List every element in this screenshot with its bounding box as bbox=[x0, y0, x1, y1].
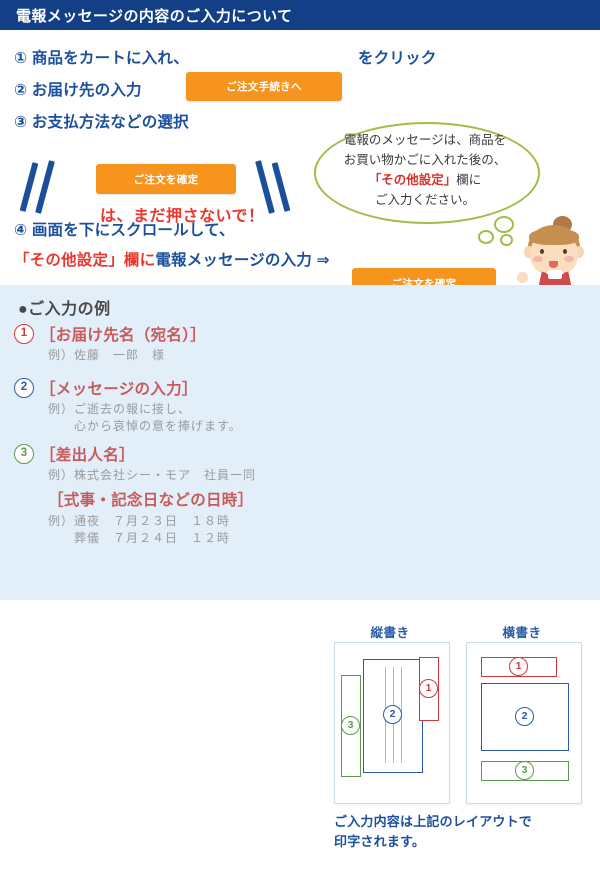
example-sample-2-line-1: 例）ご逝去の報に接し、 bbox=[48, 401, 242, 418]
step-3: ③ お支払方法などの選択 bbox=[14, 110, 189, 132]
example-sample-date: 例）通夜 ７月２３日 １８時 葬儀 ７月２４日 １２時 bbox=[48, 513, 230, 547]
step-4-arrow-icon: ⇒ bbox=[317, 252, 330, 269]
example-panel-title: ●ご入力の例 bbox=[18, 295, 111, 319]
infographic-page: 電報メッセージの内容のご入力について ① 商品をカートに入れ、 をクリック ご注… bbox=[0, 0, 600, 600]
character-mouth bbox=[549, 261, 558, 268]
page-header: 電報メッセージの内容のご入力について bbox=[0, 0, 600, 30]
layout-diagrams: 縦書き 横書き 1 2 3 1 2 3 bbox=[330, 580, 592, 880]
step-4-line-1: ④ 画面を下にスクロールして、 bbox=[14, 218, 235, 240]
steps-section: ① 商品をカートに入れ、 をクリック ご注文手続きへ ② お届け先の入力 ③ お… bbox=[0, 30, 600, 282]
step-2: ② お届け先の入力 bbox=[14, 78, 142, 100]
slash-mark-left-1 bbox=[20, 162, 39, 212]
example-sample-2-line-2: 心から哀悼の意を捧げます。 bbox=[48, 418, 242, 435]
character-blush-left bbox=[533, 256, 543, 262]
example-item-2: 2［メッセージの入力］ bbox=[14, 377, 198, 399]
bubble-line-1: 電報のメッセージは、商品を bbox=[318, 130, 532, 150]
bubble-highlight: 「その他設定」 bbox=[369, 173, 457, 187]
example-sample-3-line-1: 例）株式会社シー・モア 社員一同 bbox=[48, 467, 256, 484]
example-label-date: ［式事・記念日などの日時］ bbox=[48, 492, 253, 509]
horizontal-marker-1: 1 bbox=[509, 657, 528, 676]
character-eye-right bbox=[563, 249, 567, 254]
speech-bubble-text: 電報のメッセージは、商品を お買い物かごに入れた後の、 「その他設定」欄に ご入… bbox=[318, 130, 532, 210]
step-4-line-2: 「その他設定」欄に電報メッセージの入力 ⇒ bbox=[14, 248, 330, 270]
example-item-3: 3［差出人名］ bbox=[14, 443, 135, 465]
example-item-1: 1［お届け先名（宛名）］ bbox=[14, 323, 206, 345]
example-label-2: ［メッセージの入力］ bbox=[40, 381, 198, 398]
vertical-marker-1: 1 bbox=[419, 679, 438, 698]
checkout-button-label: ご注文手続きへ bbox=[226, 79, 302, 94]
example-sample-2: 例）ご逝去の報に接し、 心から哀悼の意を捧げます。 bbox=[48, 401, 242, 435]
step-4-navy-text: 電報メッセージの入力 bbox=[155, 252, 312, 269]
vertical-marker-2: 2 bbox=[383, 705, 402, 724]
speech-bubble-tail-3 bbox=[500, 234, 513, 246]
example-label-1: ［お届け先名（宛名）］ bbox=[40, 327, 206, 344]
bubble-line-3-tail: 欄に bbox=[456, 173, 481, 187]
diagram-caption: ご入力内容は上記のレイアウトで 印字されます。 bbox=[334, 812, 590, 852]
checkout-button[interactable]: ご注文手続きへ bbox=[186, 72, 342, 101]
speech-bubble-tail-2 bbox=[478, 230, 494, 244]
bubble-line-3: 「その他設定」欄に bbox=[318, 170, 532, 190]
example-item-date: ［式事・記念日などの日時］ bbox=[48, 488, 253, 510]
confirm-order-button-1[interactable]: ご注文を確定 bbox=[96, 164, 236, 194]
slash-mark-right-2 bbox=[272, 162, 291, 212]
diagram-caption-line-1: ご入力内容は上記のレイアウトで bbox=[334, 812, 590, 832]
character-hand bbox=[517, 272, 528, 283]
character-blush-right bbox=[564, 256, 574, 262]
step-1-suffix: をクリック bbox=[358, 50, 437, 67]
example-number-1: 1 bbox=[14, 324, 34, 344]
example-sample-1: 例）佐藤 一郎 様 bbox=[48, 347, 165, 364]
horizontal-layout-card: 1 2 3 bbox=[466, 642, 582, 804]
step-1-prefix: ① 商品をカートに入れ、 bbox=[14, 50, 189, 67]
horizontal-marker-2: 2 bbox=[515, 707, 534, 726]
step-4-red-text: 「その他設定」欄に bbox=[14, 252, 155, 269]
bubble-line-2: お買い物かごに入れた後の、 bbox=[318, 150, 532, 170]
example-panel: ●ご入力の例 1［お届け先名（宛名）］ 例）佐藤 一郎 様 2［メッセージの入力… bbox=[0, 285, 600, 600]
diagram-caption-line-2: 印字されます。 bbox=[334, 832, 590, 852]
step-1: ① 商品をカートに入れ、 をクリック bbox=[14, 46, 437, 68]
bubble-line-4: ご入力ください。 bbox=[318, 190, 532, 210]
example-sample-date-line-2: 葬儀 ７月２４日 １２時 bbox=[48, 530, 230, 547]
vertical-marker-3: 3 bbox=[341, 716, 360, 735]
character-collar bbox=[548, 270, 562, 279]
speech-bubble-tail-1 bbox=[494, 216, 514, 233]
example-number-3: 3 bbox=[14, 444, 34, 464]
example-sample-3: 例）株式会社シー・モア 社員一同 bbox=[48, 467, 256, 484]
confirm-order-button-1-label: ご注文を確定 bbox=[134, 172, 199, 187]
character-fringe bbox=[529, 228, 579, 245]
vertical-layout-title: 縦書き bbox=[330, 622, 450, 641]
example-number-2: 2 bbox=[14, 378, 34, 398]
example-sample-date-line-1: 例）通夜 ７月２３日 １８時 bbox=[48, 513, 230, 530]
character-eye-left bbox=[540, 249, 544, 254]
page-title: 電報メッセージの内容のご入力について bbox=[16, 5, 292, 26]
vertical-layout-card: 1 2 3 bbox=[334, 642, 450, 804]
horizontal-layout-title: 横書き bbox=[462, 622, 582, 641]
slash-mark-left-2 bbox=[35, 160, 55, 214]
example-label-3: ［差出人名］ bbox=[40, 447, 135, 464]
horizontal-marker-3: 3 bbox=[515, 761, 534, 780]
example-sample-1-line-1: 例）佐藤 一郎 様 bbox=[48, 347, 165, 364]
